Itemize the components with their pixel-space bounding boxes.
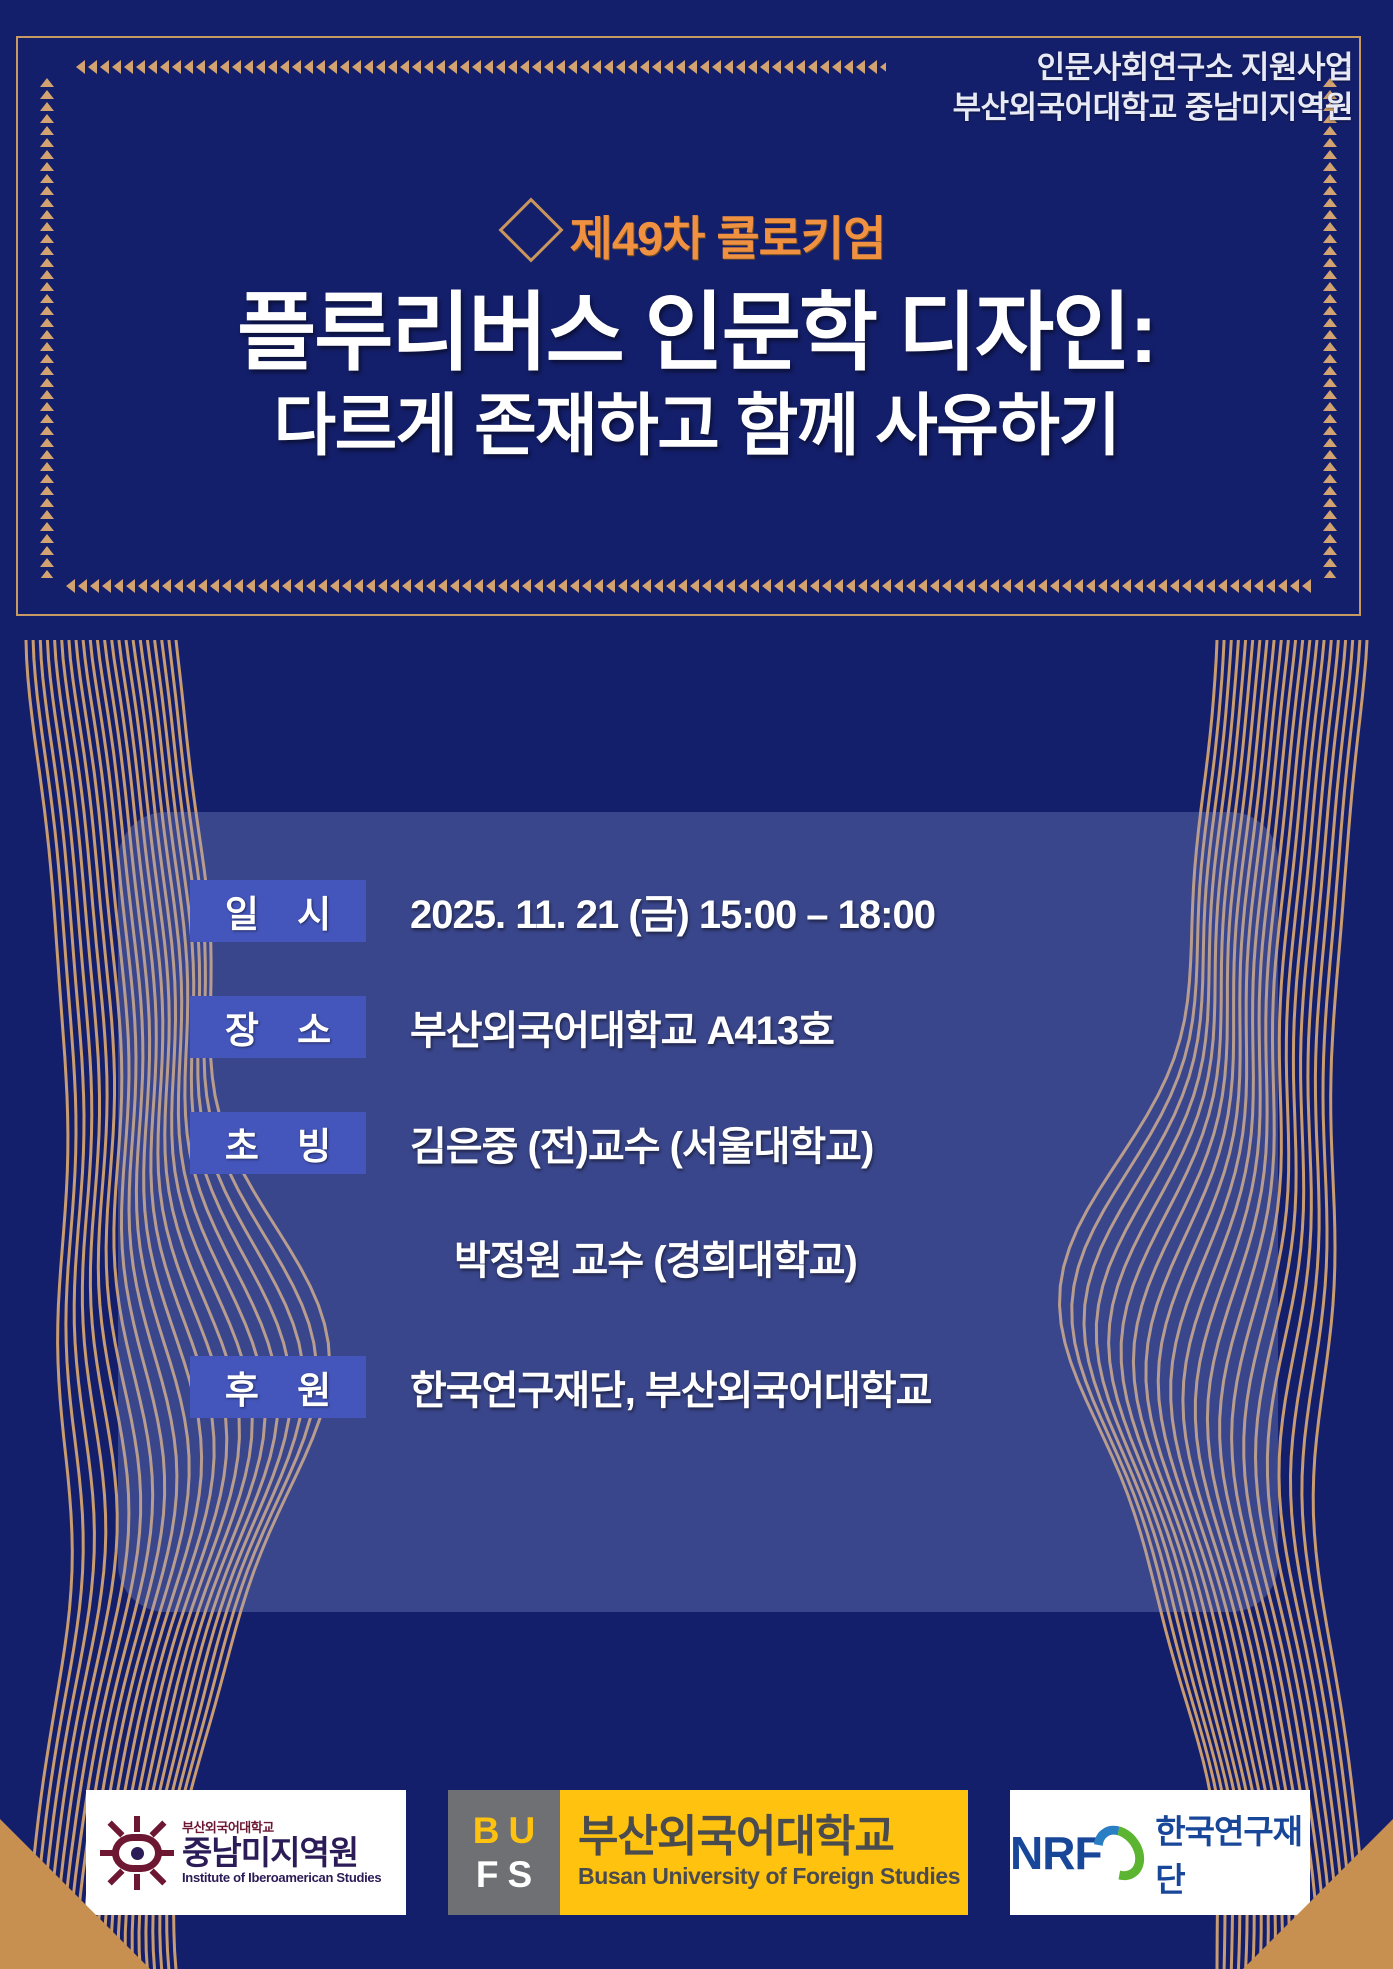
poster-title-sub: 다르게 존재하고 함께 사유하기 xyxy=(0,370,1393,469)
info-row-venue: 장 소 부산외국어대학교 A413호 xyxy=(190,996,1250,1058)
info-row-date: 일 시 2025. 11. 21 (금) 15:00 – 18:00 xyxy=(190,880,1250,942)
nrf-letters: NRF xyxy=(1010,1826,1102,1880)
info-value-speaker-2: 박정원 교수 (경희대학교) xyxy=(454,1228,857,1286)
diamond-icon xyxy=(498,197,563,262)
info-row-speaker-2: 박정원 교수 (경희대학교) xyxy=(190,1228,1250,1286)
series-label-text: 제49차 콜로키엄 xyxy=(570,200,886,269)
info-label-sponsor: 후 원 xyxy=(190,1356,366,1418)
poster-root: 인문사회연구소 지원사업 부산외국어대학교 중남미지역원 제49차 콜로키엄 플… xyxy=(0,0,1393,1969)
organizer-program: 인문사회연구소 지원사업 xyxy=(953,48,1353,88)
colloquium-series-label: 제49차 콜로키엄 xyxy=(0,200,1393,269)
poster-title-main: 플루리버스 인문학 디자인: xyxy=(0,262,1393,387)
corner-wedge-left xyxy=(0,1819,150,1969)
bufs-name-ko: 부산외국어대학교 xyxy=(578,1815,968,1859)
logo-bufs: BU FS 부산외국어대학교 Busan University of Forei… xyxy=(448,1790,968,1915)
info-row-speaker-1: 초 빙 김은중 (전)교수 (서울대학교) xyxy=(190,1112,1250,1174)
info-row-sponsor: 후 원 한국연구재단, 부산외국어대학교 xyxy=(190,1356,1250,1418)
logo-strip: 부산외국어대학교 중남미지역원 Institute of Iberoameric… xyxy=(0,1784,1393,1924)
info-rows: 일 시 2025. 11. 21 (금) 15:00 – 18:00 장 소 부… xyxy=(190,880,1250,1472)
info-value-sponsor: 한국연구재단, 부산외국어대학교 xyxy=(410,1358,931,1416)
info-label-date: 일 시 xyxy=(190,880,366,942)
nrf-swoosh-icon xyxy=(1096,1824,1142,1882)
bufs-name-en: Busan University of Foreign Studies xyxy=(578,1863,968,1890)
info-value-date: 2025. 11. 21 (금) 15:00 – 18:00 xyxy=(410,882,935,940)
bufs-monogram-row2: FS xyxy=(467,1856,541,1893)
organizer-block: 인문사회연구소 지원사업 부산외국어대학교 중남미지역원 xyxy=(953,48,1353,129)
info-label-venue: 장 소 xyxy=(190,996,366,1058)
bufs-monogram-row1: BU xyxy=(464,1812,544,1849)
info-label-speakers: 초 빙 xyxy=(190,1112,366,1174)
iberoamerican-logo-text: 부산외국어대학교 중남미지역원 Institute of Iberoameric… xyxy=(182,1821,381,1884)
triangle-border-bottom xyxy=(66,579,1311,593)
info-value-venue: 부산외국어대학교 A413호 xyxy=(410,998,834,1056)
iberoamerican-name-ko: 중남미지역원 xyxy=(182,1836,381,1869)
iberoamerican-university: 부산외국어대학교 xyxy=(182,1821,381,1834)
triangle-border-top xyxy=(76,60,886,74)
iberoamerican-name-en: Institute of Iberoamerican Studies xyxy=(182,1871,381,1884)
corner-wedge-right xyxy=(1243,1819,1393,1969)
organizer-institute: 부산외국어대학교 중남미지역원 xyxy=(953,88,1353,128)
info-value-speaker-1: 김은중 (전)교수 (서울대학교) xyxy=(410,1114,873,1172)
bufs-wordmark: 부산외국어대학교 Busan University of Foreign Stu… xyxy=(560,1790,968,1915)
bufs-monogram-icon: BU FS xyxy=(448,1790,560,1915)
